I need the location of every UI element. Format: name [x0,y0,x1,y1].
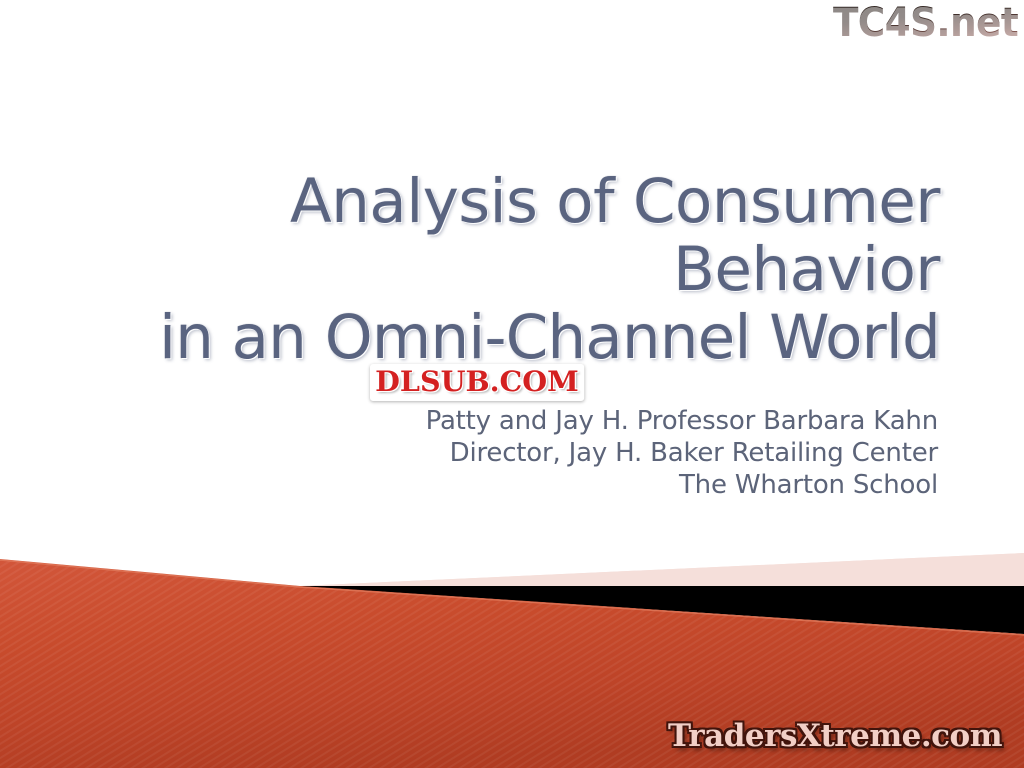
title-slide: TC4S.net Analysis of Consumer Behavior i… [0,0,1024,768]
subtitle-line-1: Patty and Jay H. Professor Barbara Kahn [426,405,938,437]
orange-wedge-highlight [0,560,1024,635]
subtitle-line-3: The Wharton School [426,469,938,501]
page-title: Analysis of Consumer Behavior in an Omni… [64,168,940,372]
subtitle: Patty and Jay H. Professor Barbara Kahn … [426,405,938,501]
title-line-3: in an Omni-Channel World [64,304,940,372]
tc4s-logo[interactable]: TC4S.net [833,1,1018,45]
tradersxtreme-brand[interactable]: TradersXtreme.com [668,718,1002,754]
title-line-1: Analysis of Consumer [64,168,940,236]
black-wedge [296,586,1024,634]
pale-pink-wedge [300,553,1024,586]
subtitle-line-2: Director, Jay H. Baker Retailing Center [426,437,938,469]
pale-pink-wedge-body [300,553,1024,588]
dlsub-watermark[interactable]: DLSUB.COM [370,364,584,401]
title-line-2: Behavior [64,236,940,304]
